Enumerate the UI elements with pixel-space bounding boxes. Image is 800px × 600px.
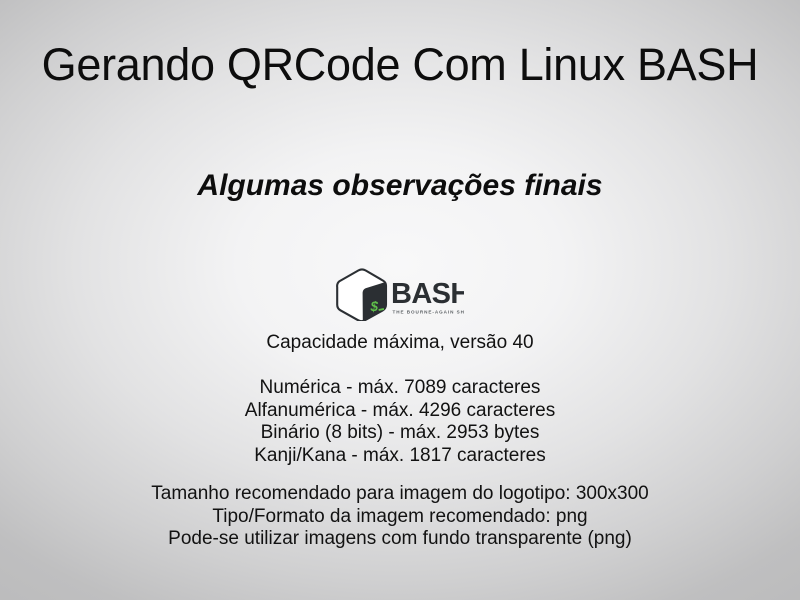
recommendation-block: Tamanho recomendado para imagem do logot…	[0, 483, 800, 551]
capacity-line-kanji: Kanji/Kana - máx. 1817 caracteres	[0, 445, 800, 468]
presentation-slide: Gerando QRCode Com Linux BASH Algumas ob…	[0, 0, 800, 600]
capacity-line-binary: Binário (8 bits) - máx. 2953 bytes	[0, 422, 800, 445]
bash-logo-svg: $ BASH THE BOURNE-AGAIN SHELL	[336, 267, 464, 321]
bash-logo: $ BASH THE BOURNE-AGAIN SHELL	[0, 266, 800, 322]
capacity-heading-block: Capacidade máxima, versão 40	[0, 332, 800, 355]
bash-prompt-dollar-icon: $	[370, 299, 379, 314]
capacity-line-alphanumeric: Alfanumérica - máx. 4296 caracteres	[0, 400, 800, 423]
recommendation-line-size: Tamanho recomendado para imagem do logot…	[0, 483, 800, 506]
bash-wordmark: BASH	[391, 278, 464, 310]
capacity-heading: Capacidade máxima, versão 40	[0, 332, 800, 355]
bash-cube-icon: $	[337, 269, 386, 321]
slide-title: Gerando QRCode Com Linux BASH	[0, 38, 800, 92]
capacity-line-numeric: Numérica - máx. 7089 caracteres	[0, 377, 800, 400]
bash-tagline: THE BOURNE-AGAIN SHELL	[393, 310, 465, 315]
recommendation-line-format: Tipo/Formato da imagem recomendado: png	[0, 506, 800, 529]
capacity-list-block: Numérica - máx. 7089 caracteres Alfanumé…	[0, 377, 800, 467]
recommendation-line-alpha: Pode-se utilizar imagens com fundo trans…	[0, 528, 800, 551]
slide-subtitle: Algumas observações finais	[0, 168, 800, 204]
